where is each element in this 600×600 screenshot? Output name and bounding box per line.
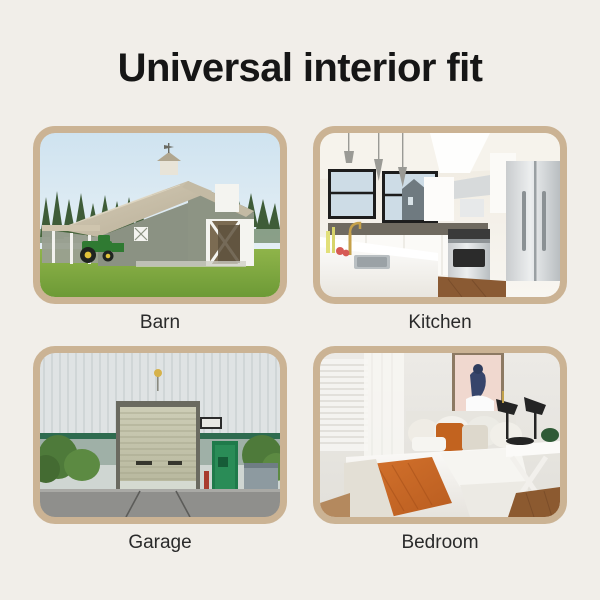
kitchen-photo bbox=[320, 133, 560, 297]
photo-frame-garage bbox=[33, 346, 287, 524]
gallery-card-label: Kitchen bbox=[408, 313, 471, 334]
gallery-card-label: Garage bbox=[128, 533, 191, 554]
gallery-card-bedroom[interactable]: Bedroom bbox=[313, 346, 567, 554]
photo-frame-bedroom bbox=[313, 346, 567, 524]
gallery-card-label: Bedroom bbox=[401, 533, 478, 554]
image-gallery-grid: Barn bbox=[33, 126, 567, 554]
barn-photo bbox=[40, 133, 280, 297]
photo-frame-kitchen bbox=[313, 126, 567, 304]
page-title: Universal interior fit bbox=[0, 48, 600, 88]
garage-photo bbox=[40, 353, 280, 517]
gallery-card-label: Barn bbox=[140, 313, 180, 334]
gallery-card-barn[interactable]: Barn bbox=[33, 126, 287, 334]
bedroom-photo bbox=[320, 353, 560, 517]
gallery-card-kitchen[interactable]: Kitchen bbox=[313, 126, 567, 334]
product-feature-panel: Universal interior fit bbox=[0, 0, 600, 600]
photo-frame-barn bbox=[33, 126, 287, 304]
gallery-card-garage[interactable]: Garage bbox=[33, 346, 287, 554]
